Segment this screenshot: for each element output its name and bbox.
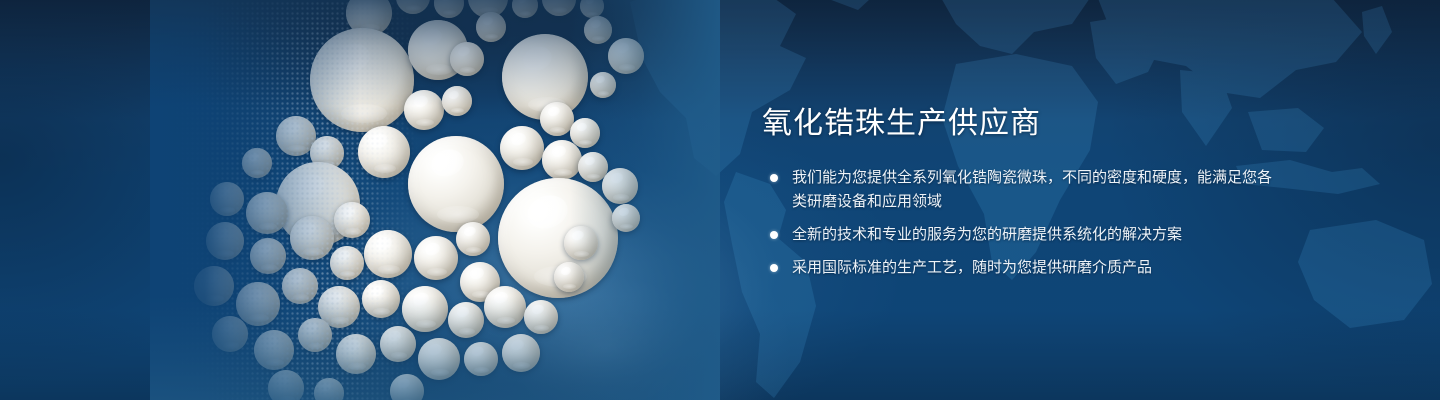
feature-list: 我们能为您提供全系列氧化锆陶瓷微珠，不同的密度和硬度，能满足您各类研磨设备和应用… bbox=[762, 166, 1282, 280]
bullet-dot-icon bbox=[770, 174, 778, 182]
feature-text: 我们能为您提供全系列氧化锆陶瓷微珠，不同的密度和硬度，能满足您各类研磨设备和应用… bbox=[792, 169, 1272, 210]
background-bottom-shade bbox=[0, 310, 1440, 400]
feature-list-item: 采用国际标准的生产工艺，随时为您提供研磨介质产品 bbox=[762, 256, 1282, 280]
feature-list-item: 全新的技术和专业的服务为您的研磨提供系统化的解决方案 bbox=[762, 223, 1282, 247]
feature-text: 全新的技术和专业的服务为您的研磨提供系统化的解决方案 bbox=[792, 226, 1182, 243]
banner-headline: 氧化锆珠生产供应商 bbox=[762, 104, 1282, 144]
banner-copy: 氧化锆珠生产供应商 我们能为您提供全系列氧化锆陶瓷微珠，不同的密度和硬度，能满足… bbox=[762, 104, 1282, 280]
bullet-dot-icon bbox=[770, 264, 778, 272]
hero-banner: 氧化锆珠生产供应商 我们能为您提供全系列氧化锆陶瓷微珠，不同的密度和硬度，能满足… bbox=[0, 0, 1440, 400]
bullet-dot-icon bbox=[770, 231, 778, 239]
feature-text: 采用国际标准的生产工艺，随时为您提供研磨介质产品 bbox=[792, 259, 1152, 276]
feature-list-item: 我们能为您提供全系列氧化锆陶瓷微珠，不同的密度和硬度，能满足您各类研磨设备和应用… bbox=[762, 166, 1282, 214]
